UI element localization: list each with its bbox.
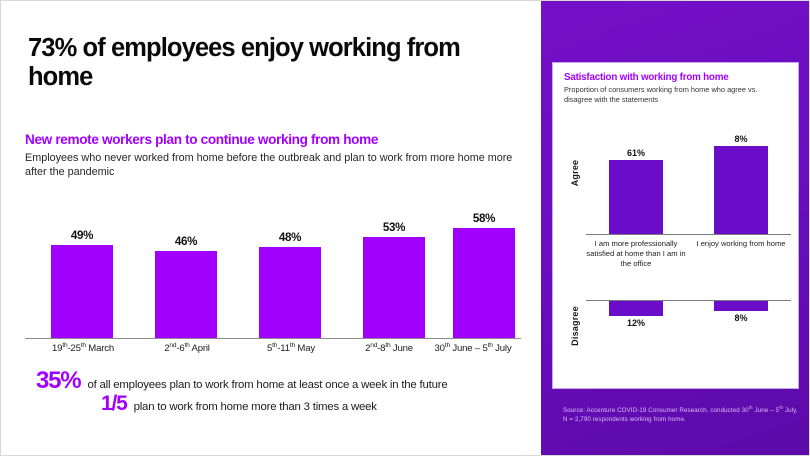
timeline-bar-chart: 49% 46% 48% 53% 58% [25,187,521,339]
right-purple-panel: Satisfaction with working from home Prop… [541,1,810,456]
card-title: Satisfaction with working from home [564,72,792,83]
bar-value-label: 53% [359,221,429,234]
disagree-axis-label: Disagree [570,293,580,359]
bar-group: 49% [47,229,117,338]
bar [363,237,425,338]
bar-group: 12% [586,301,686,328]
bar [609,301,663,316]
bar-group: 48% [255,231,325,338]
chart-description: Employees who never worked from home bef… [25,151,517,180]
category-label: 30th June – 5th July [421,342,525,354]
bar [714,301,768,311]
chart-axis-line [25,338,521,339]
agree-axis-label: Agree [570,143,580,203]
left-pane: 73% of employees enjoy working from home… [1,1,541,456]
statement-label: I enjoy working from home [691,239,791,249]
bar-value-label: 58% [449,212,519,225]
bar [259,247,321,338]
source-note: Source: Accenture COVID-19 Consumer Rese… [563,405,799,425]
disagree-bar-chart: 12% 8% [586,300,791,362]
statement-label: I am more professionally satisfied at ho… [586,239,686,269]
agree-bar-chart: 61% 8% [586,110,791,235]
bar [609,160,663,234]
chart-axis-line [586,234,791,235]
callout-statistic-1: 35% of all employees plan to work from h… [36,367,526,395]
page-title: 73% of employees enjoy working from home [28,34,508,92]
bar-value-label: 12% [586,318,686,328]
slide: 73% of employees enjoy working from home… [0,0,810,456]
bar-value-label: 46% [151,235,221,248]
bar-value-label: 61% [586,148,686,158]
bar-group: 8% [691,301,791,323]
bar-group: 53% [359,221,429,338]
bar [453,228,515,338]
bar-value-label: 49% [47,229,117,242]
callout-text: plan to work from home more than 3 times… [134,401,377,413]
bar [51,245,113,338]
callout-text: of all employees plan to work from home … [87,379,447,391]
callout-figure: 1/5 [101,392,127,416]
category-label: 19th-25th March [31,342,135,354]
bar [155,251,217,338]
bar [714,146,768,234]
category-label: 5th-11th May [239,342,343,354]
card-description: Proportion of consumers working from hom… [564,85,779,105]
callout-figure: 35% [36,367,80,395]
category-label: 2nd-6th April [135,342,239,354]
chart-category-labels: 19th-25th March 2nd-6th April 5th-11th M… [25,342,521,358]
bar-value-label: 8% [691,134,791,144]
bar-group: 8% [691,134,791,234]
bar-value-label: 48% [255,231,325,244]
chart-subtitle: New remote workers plan to continue work… [25,132,520,147]
bar-value-label: 8% [691,313,791,323]
bar-group: 58% [449,212,519,338]
bar-group: 61% [586,148,686,234]
satisfaction-card: Satisfaction with working from home Prop… [552,62,799,389]
callout-statistic-2: 1/5 plan to work from home more than 3 t… [101,392,531,416]
bar-group: 46% [151,235,221,338]
